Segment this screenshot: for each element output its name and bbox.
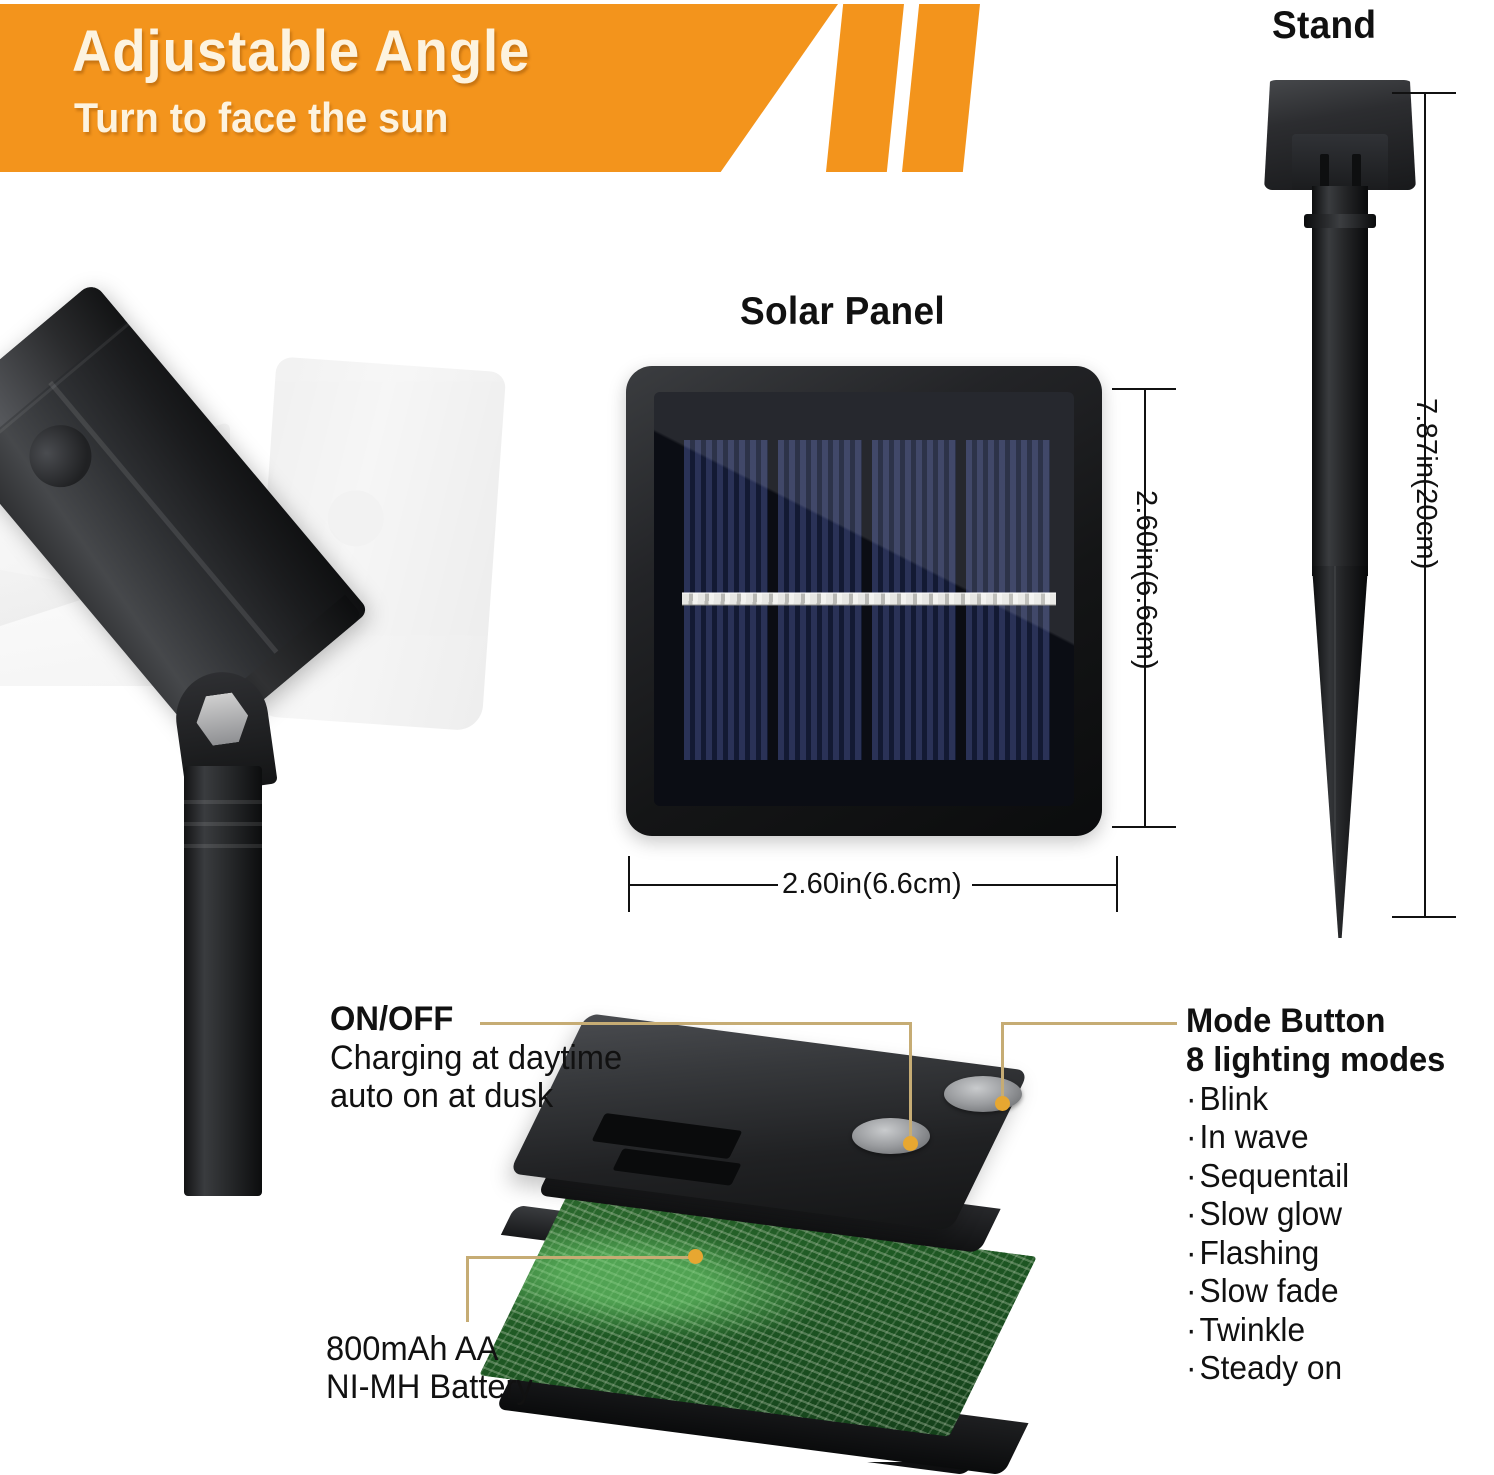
pole-band <box>184 844 262 848</box>
leader-segment <box>466 1256 469 1322</box>
pole-band <box>184 822 262 826</box>
panel-height-label: 2.60in(6.6cm) <box>1129 490 1162 670</box>
onoff-line-2: auto on at dusk <box>330 1077 622 1115</box>
infographic-canvas: Adjustable Angle Turn to face the sun So… <box>0 0 1494 1462</box>
mode-callout: Mode Button 8 lighting modes BlinkIn wav… <box>1186 1002 1456 1388</box>
lighting-mode-item: In wave <box>1186 1118 1445 1156</box>
lighting-mode-item: Twinkle <box>1186 1311 1445 1349</box>
leader-segment <box>1001 1022 1004 1104</box>
stand-tube <box>1312 186 1368 576</box>
stand-ground-spike <box>1312 566 1368 938</box>
dimension-tick <box>1392 92 1456 94</box>
banner-title: Adjustable Angle <box>72 18 530 85</box>
spike-highlight <box>1334 566 1336 926</box>
hex-bolt-icon <box>193 691 251 748</box>
dimension-line <box>628 884 778 886</box>
spotlight-illustration <box>0 276 530 916</box>
banner-subtitle: Turn to face the sun <box>74 94 448 142</box>
lighting-mode-item: Blink <box>1186 1080 1445 1118</box>
dimension-tick <box>1112 826 1176 828</box>
lighting-mode-item: Steady on <box>1186 1349 1445 1387</box>
battery-line-2: NI-MH Battery <box>326 1368 533 1406</box>
leader-segment <box>909 1022 912 1144</box>
stand-height-label: 7.87in(20cm) <box>1409 398 1442 570</box>
battery-line-1: 800mAh AA <box>326 1330 533 1368</box>
stand-prong <box>1352 154 1361 190</box>
onoff-line-1: Charging at daytime <box>330 1039 622 1077</box>
leader-endpoint-dot <box>688 1249 703 1264</box>
dimension-line <box>972 884 1118 886</box>
solar-busbar <box>682 593 1056 606</box>
lighting-mode-item: Sequentail <box>1186 1157 1445 1195</box>
solar-panel-frame <box>626 366 1102 836</box>
stand-collar <box>1304 214 1376 228</box>
lighting-mode-item: Slow glow <box>1186 1195 1445 1233</box>
solar-panel-illustration <box>626 366 1102 836</box>
lighting-modes-list: BlinkIn waveSequentailSlow glowFlashingS… <box>1186 1080 1456 1388</box>
banner-stripe-icon <box>826 4 904 172</box>
lighting-mode-item: Slow fade <box>1186 1272 1445 1310</box>
panel-width-label: 2.60in(6.6cm) <box>782 868 962 901</box>
onoff-heading: ON/OFF <box>330 1000 622 1039</box>
banner-stripe-icon <box>902 4 980 172</box>
mode-button[interactable] <box>944 1076 1022 1112</box>
solar-panel-title: Solar Panel <box>740 290 945 334</box>
dimension-tick <box>1392 916 1456 918</box>
stand-bracket-head <box>1264 80 1416 190</box>
onoff-button[interactable] <box>852 1118 930 1154</box>
mode-subheading: 8 lighting modes <box>1186 1041 1445 1080</box>
lighting-mode-item: Flashing <box>1186 1234 1445 1272</box>
solar-panel-glass <box>654 392 1074 806</box>
onoff-callout: ON/OFF Charging at daytime auto on at du… <box>330 1000 634 1115</box>
stand-head-face <box>1292 134 1388 192</box>
spotlight-pole <box>184 766 262 1196</box>
mode-heading: Mode Button <box>1186 1002 1445 1041</box>
leader-endpoint-dot <box>995 1096 1010 1111</box>
stand-prong <box>1320 154 1329 190</box>
leader-segment <box>466 1256 696 1259</box>
leader-endpoint-dot <box>903 1136 918 1151</box>
stand-title: Stand <box>1272 4 1376 48</box>
leader-segment <box>1001 1022 1177 1025</box>
pole-band <box>184 800 262 804</box>
battery-callout: 800mAh AA NI-MH Battery <box>326 1330 541 1406</box>
spotlight-knob-icon <box>17 412 104 499</box>
dimension-tick <box>1112 388 1176 390</box>
